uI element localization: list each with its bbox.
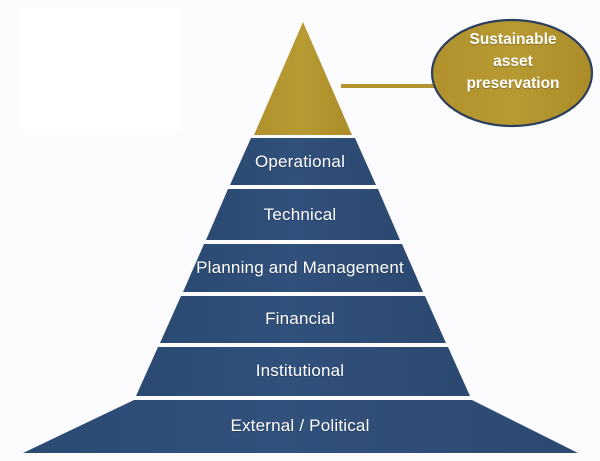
pyramid-band-2	[206, 189, 400, 240]
pyramid-graphic	[0, 0, 600, 461]
pyramid-tip-gold	[254, 22, 352, 135]
pyramid-band-6	[23, 400, 578, 453]
callout-ellipse	[432, 20, 592, 126]
pyramid-band-3	[183, 244, 423, 292]
pyramid-band-5	[136, 347, 470, 396]
pyramid-band-1	[230, 138, 376, 185]
pyramid-band-4	[160, 296, 446, 343]
pyramid-diagram: Operational Technical Planning and Manag…	[0, 0, 600, 461]
